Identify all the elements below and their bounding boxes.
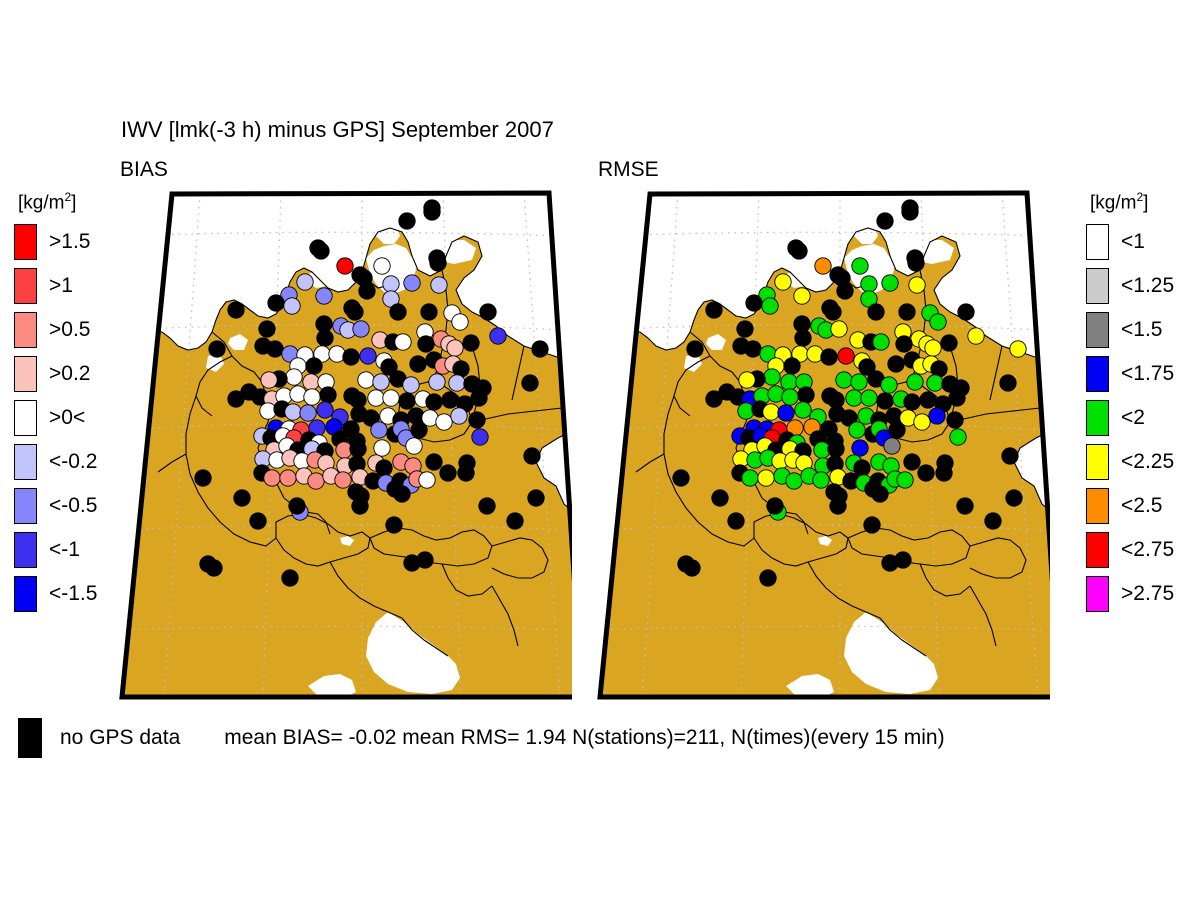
legend-rmse-entry-row: <2	[1086, 396, 1174, 440]
station-marker[interactable]	[532, 341, 548, 357]
station-marker[interactable]	[195, 470, 211, 486]
station-marker[interactable]	[884, 438, 900, 454]
station-marker[interactable]	[728, 513, 744, 529]
station-marker[interactable]	[895, 552, 911, 568]
station-marker[interactable]	[949, 390, 965, 406]
station-marker[interactable]	[522, 375, 538, 391]
station-marker[interactable]	[209, 341, 225, 357]
station-marker[interactable]	[815, 258, 831, 274]
station-marker[interactable]	[268, 295, 284, 311]
legend-bias-entry-row: <-0.5	[14, 484, 97, 528]
station-marker[interactable]	[831, 321, 847, 337]
station-marker[interactable]	[767, 498, 783, 514]
station-marker[interactable]	[261, 372, 277, 388]
station-marker[interactable]	[316, 288, 332, 304]
station-marker[interactable]	[929, 408, 945, 424]
legend-bias-entry-label: >0.2	[49, 362, 90, 386]
station-marker[interactable]	[902, 204, 918, 220]
legend-rmse-entry-row: <2.5	[1086, 484, 1174, 528]
station-marker[interactable]	[782, 389, 798, 405]
station-marker[interactable]	[828, 441, 844, 457]
station-marker[interactable]	[289, 498, 305, 514]
station-marker[interactable]	[297, 274, 313, 290]
panel-label-bias: BIAS	[120, 158, 168, 182]
station-marker[interactable]	[472, 429, 488, 445]
station-marker[interactable]	[360, 348, 376, 364]
station-marker[interactable]	[383, 276, 399, 292]
station-marker[interactable]	[763, 404, 779, 420]
legend-rmse-entry-label: <2.75	[1121, 538, 1174, 562]
station-marker[interactable]	[374, 258, 390, 274]
station-marker[interactable]	[430, 255, 446, 271]
legend-bias-entry-swatch	[14, 356, 37, 392]
station-marker[interactable]	[228, 391, 244, 407]
station-marker[interactable]	[449, 375, 465, 391]
legend-bias-entry-label: <-0.2	[49, 450, 97, 474]
station-marker[interactable]	[290, 386, 306, 402]
station-marker[interactable]	[813, 472, 829, 488]
station-marker[interactable]	[821, 349, 837, 365]
station-marker[interactable]	[390, 304, 406, 320]
station-marker[interactable]	[419, 472, 435, 488]
legend-bias-entry-row: >0.2	[14, 352, 97, 396]
legend-rmse-entry-label: <1.25	[1121, 274, 1174, 298]
station-marker[interactable]	[877, 213, 893, 229]
legend-bias-entry-label: >1	[49, 274, 73, 298]
station-marker[interactable]	[673, 470, 689, 486]
legend-rmse-units: [kg/m2]	[1090, 190, 1174, 214]
station-marker[interactable]	[768, 386, 784, 402]
legend-rmse-entry-label: <1.75	[1121, 362, 1174, 386]
legend-rmse-entry-label: <1	[1121, 230, 1145, 254]
station-marker[interactable]	[851, 374, 867, 390]
station-marker[interactable]	[881, 377, 897, 393]
station-marker[interactable]	[918, 465, 934, 481]
legend-bias-entry-row: <-1	[14, 528, 97, 572]
station-marker[interactable]	[925, 340, 941, 356]
station-marker[interactable]	[442, 392, 458, 408]
legend-rmse-entry-swatch	[1086, 356, 1109, 392]
station-marker[interactable]	[418, 336, 434, 352]
station-marker[interactable]	[899, 304, 915, 320]
station-marker[interactable]	[775, 274, 791, 290]
station-marker[interactable]	[490, 328, 506, 344]
legend-rmse-entry-label: <2.5	[1121, 494, 1162, 518]
station-marker[interactable]	[830, 498, 846, 514]
station-marker[interactable]	[907, 374, 923, 390]
station-marker[interactable]	[374, 440, 390, 456]
station-marker[interactable]	[358, 372, 374, 388]
station-marker[interactable]	[421, 304, 437, 320]
station-marker[interactable]	[1002, 448, 1018, 464]
station-marker[interactable]	[452, 314, 468, 330]
legend-rmse-entry-label: <2.25	[1121, 450, 1174, 474]
station-marker[interactable]	[343, 349, 359, 365]
station-marker[interactable]	[373, 374, 389, 390]
legend-bias-entry-label: >1.5	[49, 230, 90, 254]
station-marker[interactable]	[524, 448, 540, 464]
station-marker[interactable]	[424, 204, 440, 220]
station-marker[interactable]	[877, 393, 893, 409]
legend-bias-entry-label: <-1.5	[49, 582, 97, 606]
station-marker[interactable]	[687, 341, 703, 357]
legend-rmse-entry-label: >2.75	[1121, 582, 1174, 606]
legend-bias-entry-swatch	[14, 268, 37, 304]
station-marker[interactable]	[762, 298, 778, 314]
station-marker[interactable]	[930, 314, 946, 330]
legend-bias-entry-row: <-1.5	[14, 572, 97, 616]
no-gps-data-label: no GPS data	[60, 726, 180, 750]
station-marker[interactable]	[313, 243, 329, 259]
station-marker[interactable]	[897, 472, 913, 488]
station-marker[interactable]	[376, 460, 392, 476]
station-marker[interactable]	[914, 414, 930, 430]
legend-bias-entry-swatch	[14, 444, 37, 480]
station-marker[interactable]	[353, 321, 369, 337]
station-marker[interactable]	[786, 473, 802, 489]
station-marker[interactable]	[784, 358, 800, 374]
map-bias-svg	[112, 186, 572, 706]
station-marker[interactable]	[846, 390, 862, 406]
legend-rmse-entry-swatch	[1086, 576, 1109, 612]
panel-label-rmse: RMSE	[598, 158, 659, 182]
station-marker[interactable]	[406, 438, 422, 454]
legend-bias-entry-swatch	[14, 488, 37, 524]
station-marker[interactable]	[852, 258, 868, 274]
station-marker[interactable]	[399, 213, 415, 229]
station-marker[interactable]	[882, 275, 898, 291]
figure-root: IWV [lmk(-3 h) minus GPS] September 2007…	[0, 0, 1201, 901]
station-marker[interactable]	[285, 404, 301, 420]
legend-bias-entry-row: >0<	[14, 396, 97, 440]
legend-bias-entry-label: >0.5	[49, 318, 90, 342]
station-marker[interactable]	[410, 356, 426, 372]
station-marker[interactable]	[463, 335, 479, 351]
station-marker[interactable]	[471, 390, 487, 406]
station-marker[interactable]	[760, 570, 776, 586]
station-marker[interactable]	[317, 402, 333, 418]
station-marker[interactable]	[889, 422, 905, 438]
legend-rmse-entry-label: <1.5	[1121, 318, 1162, 342]
station-marker[interactable]	[825, 304, 841, 320]
station-marker[interactable]	[507, 513, 523, 529]
station-marker[interactable]	[317, 330, 333, 346]
legend-bias-entry-label: <-1	[49, 538, 80, 562]
legend-bias-units: [kg/m2]	[18, 190, 97, 214]
no-gps-data-swatch	[18, 718, 42, 758]
station-marker[interactable]	[286, 369, 302, 385]
legend-bias-entry-swatch	[14, 312, 37, 348]
station-marker[interactable]	[739, 372, 755, 388]
station-marker[interactable]	[908, 255, 924, 271]
station-marker[interactable]	[1000, 375, 1016, 391]
station-marker[interactable]	[329, 346, 345, 362]
station-marker[interactable]	[403, 377, 419, 393]
legend-rmse-entry-row: <1	[1086, 220, 1174, 264]
legend-rmse-entry-swatch	[1086, 400, 1109, 436]
station-marker[interactable]	[927, 375, 943, 391]
station-marker[interactable]	[873, 334, 889, 350]
station-marker[interactable]	[399, 393, 415, 409]
legend-rmse-entry-swatch	[1086, 268, 1109, 304]
station-marker[interactable]	[795, 402, 811, 418]
legend-rmse-entry-swatch	[1086, 532, 1109, 568]
station-marker[interactable]	[904, 454, 920, 470]
station-marker[interactable]	[706, 302, 722, 318]
station-marker[interactable]	[480, 304, 496, 320]
station-marker[interactable]	[941, 335, 957, 351]
station-marker[interactable]	[479, 498, 495, 514]
station-marker[interactable]	[469, 412, 485, 428]
station-marker[interactable]	[798, 387, 814, 403]
station-marker[interactable]	[746, 295, 762, 311]
station-marker[interactable]	[206, 560, 222, 576]
station-marker[interactable]	[861, 276, 877, 292]
station-marker[interactable]	[864, 517, 880, 533]
legend-rmse-entry-swatch	[1086, 444, 1109, 480]
station-marker[interactable]	[350, 441, 366, 457]
station-marker[interactable]	[868, 304, 884, 320]
map-panel-rmse	[590, 186, 1050, 706]
station-marker[interactable]	[745, 341, 761, 357]
station-marker[interactable]	[337, 258, 353, 274]
station-marker[interactable]	[837, 283, 853, 299]
station-marker[interactable]	[300, 405, 316, 421]
station-marker[interactable]	[259, 321, 275, 337]
station-marker[interactable]	[250, 513, 266, 529]
station-marker[interactable]	[395, 334, 411, 350]
station-marker[interactable]	[267, 341, 283, 357]
station-marker[interactable]	[781, 374, 797, 390]
station-marker[interactable]	[909, 277, 925, 293]
station-marker[interactable]	[947, 412, 963, 428]
station-marker[interactable]	[528, 490, 544, 506]
station-marker[interactable]	[807, 346, 823, 362]
station-marker[interactable]	[958, 304, 974, 320]
station-marker[interactable]	[404, 275, 420, 291]
statistics-text: mean BIAS= -0.02 mean RMS= 1.94 N(statio…	[224, 726, 944, 750]
station-marker[interactable]	[306, 358, 322, 374]
station-marker[interactable]	[764, 369, 780, 385]
station-marker[interactable]	[394, 486, 410, 502]
station-marker[interactable]	[950, 429, 966, 445]
legend-rmse-entry-row: <2.25	[1086, 440, 1174, 484]
station-marker[interactable]	[854, 460, 870, 476]
legend-rmse-entry-row: <2.75	[1086, 528, 1174, 572]
station-marker[interactable]	[447, 340, 463, 356]
legend-bias-entry-label: >0<	[49, 406, 85, 430]
station-marker[interactable]	[706, 391, 722, 407]
station-marker[interactable]	[872, 486, 888, 502]
station-marker[interactable]	[347, 304, 363, 320]
station-marker[interactable]	[426, 454, 442, 470]
station-marker[interactable]	[431, 277, 447, 293]
station-marker[interactable]	[320, 387, 336, 403]
station-marker[interactable]	[451, 408, 467, 424]
station-marker[interactable]	[838, 348, 854, 364]
legend-rmse-entry-row: >2.75	[1086, 572, 1174, 616]
legend-bias-entry-row: >1.5	[14, 220, 97, 264]
station-marker[interactable]	[888, 356, 904, 372]
legend-rmse: [kg/m2] <1<1.25<1.5<1.75<2<2.25<2.5<2.75…	[1086, 190, 1174, 616]
station-marker[interactable]	[920, 392, 936, 408]
legend-bias-entry-row: >1	[14, 264, 97, 308]
station-marker[interactable]	[795, 330, 811, 346]
station-marker[interactable]	[861, 390, 877, 406]
legend-rmse-entry-row: <1.75	[1086, 352, 1174, 396]
legend-bias-entry-row: >0.5	[14, 308, 97, 352]
station-marker[interactable]	[791, 243, 807, 259]
station-marker[interactable]	[836, 372, 852, 388]
station-marker[interactable]	[458, 465, 474, 481]
legend-bias-entry-swatch	[14, 224, 37, 260]
station-marker[interactable]	[386, 517, 402, 533]
station-marker[interactable]	[303, 374, 319, 390]
station-marker[interactable]	[852, 440, 868, 456]
footer: no GPS data mean BIAS= -0.02 mean RMS= 1…	[18, 718, 945, 758]
station-marker[interactable]	[417, 552, 433, 568]
station-marker[interactable]	[896, 336, 912, 352]
station-marker[interactable]	[304, 389, 320, 405]
station-marker[interactable]	[368, 390, 384, 406]
station-marker[interactable]	[426, 394, 442, 410]
station-marker[interactable]	[352, 498, 368, 514]
station-marker[interactable]	[282, 570, 298, 586]
legend-bias-entry-swatch	[14, 532, 37, 568]
station-marker[interactable]	[411, 422, 427, 438]
station-marker[interactable]	[849, 422, 865, 438]
station-marker[interactable]	[1006, 490, 1022, 506]
legend-bias-entry-row: <-0.2	[14, 440, 97, 484]
legend-rmse-entry-swatch	[1086, 488, 1109, 524]
station-marker[interactable]	[359, 283, 375, 299]
station-marker[interactable]	[684, 560, 700, 576]
station-marker[interactable]	[234, 490, 250, 506]
station-marker[interactable]	[758, 470, 774, 486]
legend-bias-entry-label: <-0.5	[49, 494, 97, 518]
station-marker[interactable]	[1010, 341, 1026, 357]
station-marker[interactable]	[985, 513, 1001, 529]
station-marker[interactable]	[264, 470, 280, 486]
legend-rmse-entry-row: <1.25	[1086, 264, 1174, 308]
station-marker[interactable]	[335, 472, 351, 488]
station-marker[interactable]	[712, 490, 728, 506]
station-marker[interactable]	[794, 288, 810, 304]
station-marker[interactable]	[383, 390, 399, 406]
station-marker[interactable]	[440, 465, 456, 481]
legend-rmse-entry-row: <1.5	[1086, 308, 1174, 352]
legend-rmse-entry-swatch	[1086, 224, 1109, 260]
station-marker[interactable]	[968, 328, 984, 344]
station-marker[interactable]	[737, 321, 753, 337]
station-marker[interactable]	[228, 302, 244, 318]
page-title: IWV [lmk(-3 h) minus GPS] September 2007	[121, 117, 554, 143]
legend-bias: [kg/m2] >1.5>1>0.5>0.2>0<<-0.2<-0.5<-1<-…	[14, 190, 97, 616]
station-marker[interactable]	[308, 473, 324, 489]
station-marker[interactable]	[936, 465, 952, 481]
station-marker[interactable]	[436, 414, 452, 430]
station-marker[interactable]	[778, 405, 794, 421]
station-marker[interactable]	[904, 394, 920, 410]
station-marker[interactable]	[280, 470, 296, 486]
map-panel-bias	[112, 186, 572, 706]
station-marker[interactable]	[371, 422, 387, 438]
map-rmse-svg	[590, 186, 1050, 706]
station-marker[interactable]	[429, 374, 445, 390]
station-marker[interactable]	[957, 498, 973, 514]
legend-bias-entry-swatch	[14, 400, 37, 436]
station-marker[interactable]	[284, 298, 300, 314]
legend-rmse-entry-label: <2	[1121, 406, 1145, 430]
station-marker[interactable]	[742, 470, 758, 486]
legend-bias-entry-swatch	[14, 576, 37, 612]
legend-rmse-entry-swatch	[1086, 312, 1109, 348]
